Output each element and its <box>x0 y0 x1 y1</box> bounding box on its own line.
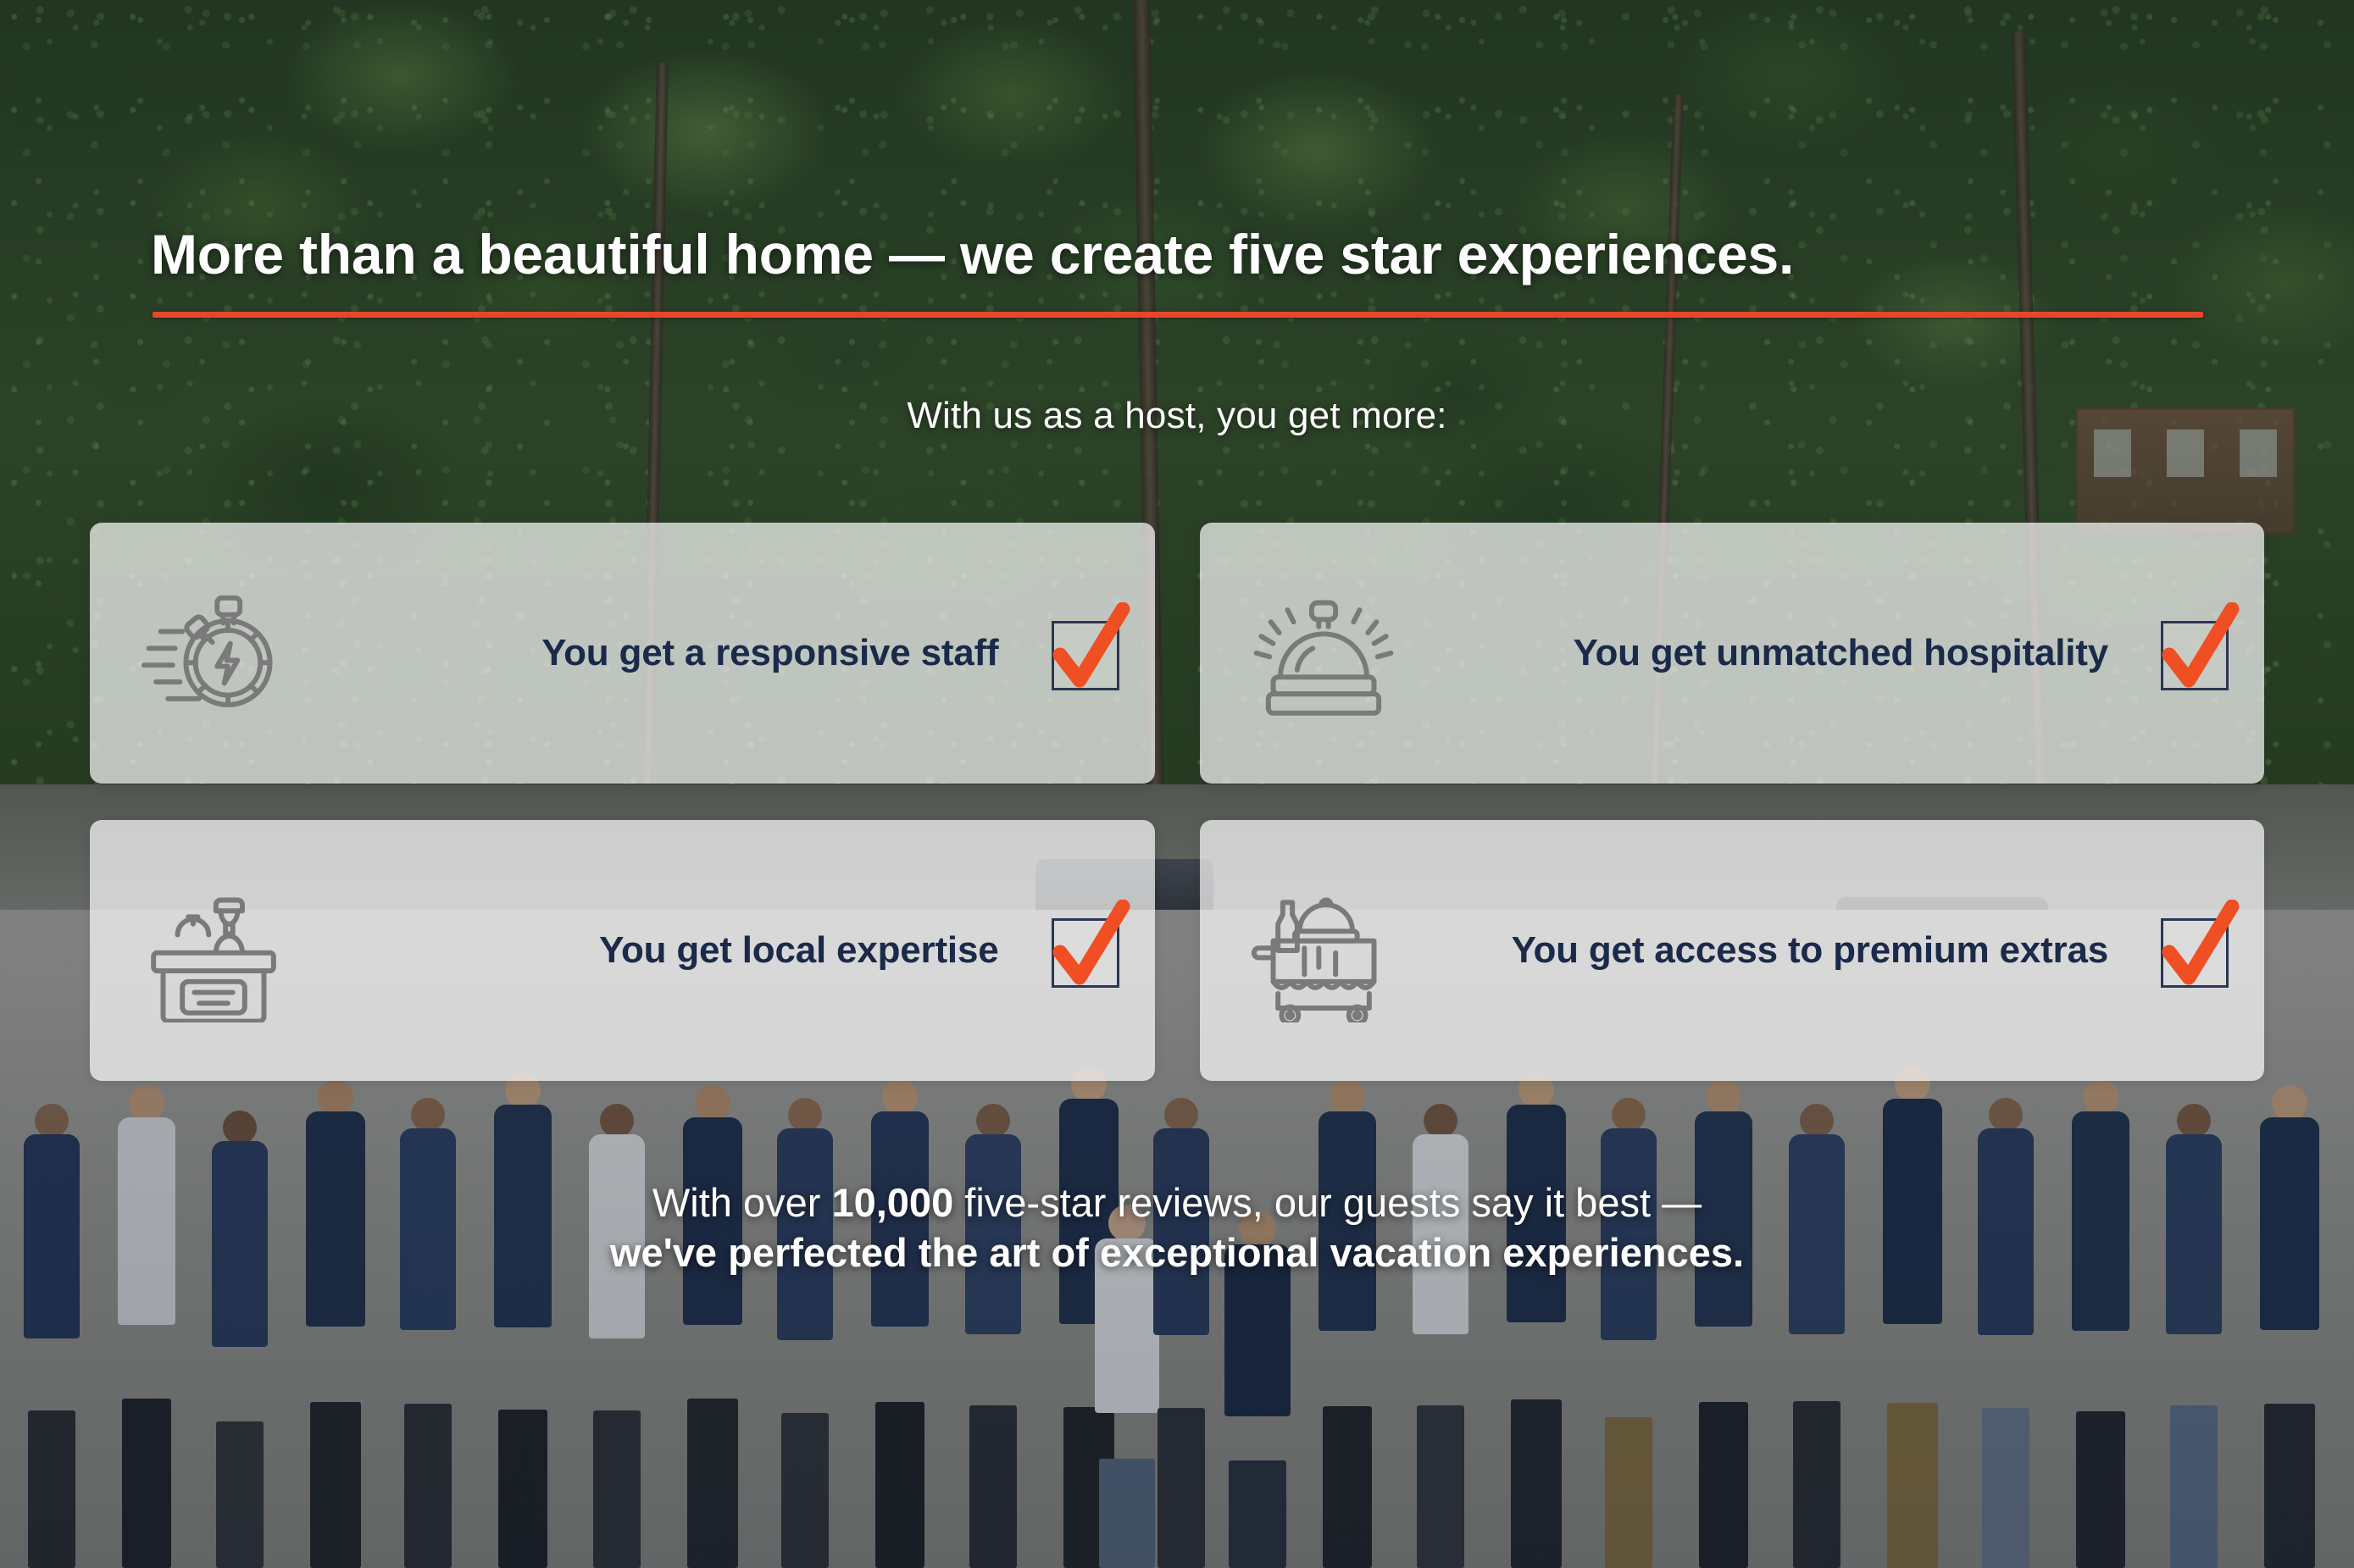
footnote-line1-pre: With over <box>652 1180 832 1225</box>
service-bell-icon <box>1249 581 1398 725</box>
checkmark-icon <box>1041 602 1133 702</box>
checkmark-icon <box>2151 602 2242 702</box>
benefit-card-premium-extras[interactable]: You get access to premium extras <box>1200 820 2265 1081</box>
benefits-grid: You get a responsive staff <box>90 523 2264 1081</box>
stopwatch-speed-icon <box>139 581 288 725</box>
marketing-hero-slide: More than a beautiful home — we create f… <box>0 0 2354 1568</box>
title-underline-rule <box>153 312 2203 318</box>
benefit-card-label: You get access to premium extras <box>1398 929 2157 972</box>
reviews-footnote: With over 10,000 five-star reviews, our … <box>0 1177 2354 1277</box>
footnote-line-2: we've perfected the art of exceptional v… <box>0 1227 2354 1277</box>
benefit-card-unmatched-hospitality[interactable]: You get unmatched hospitality <box>1200 523 2265 784</box>
checkbox-checked[interactable] <box>2156 911 2230 989</box>
checkbox-checked[interactable] <box>1047 614 1121 692</box>
benefit-card-label: You get local expertise <box>288 929 1047 972</box>
benefit-card-label: You get unmatched hospitality <box>1398 632 2157 674</box>
checkmark-icon <box>2151 900 2242 1000</box>
checkbox-checked[interactable] <box>1047 911 1121 989</box>
benefit-card-responsive-staff[interactable]: You get a responsive staff <box>90 523 1155 784</box>
page-title: More than a beautiful home — we create f… <box>151 222 2201 286</box>
benefit-card-label: You get a responsive staff <box>288 632 1047 674</box>
footnote-line1-post: five-star reviews, our guests say it bes… <box>953 1180 1702 1225</box>
checkbox-checked[interactable] <box>2156 614 2230 692</box>
slide-content: More than a beautiful home — we create f… <box>0 0 2354 1568</box>
benefit-card-local-expertise[interactable]: You get local expertise <box>90 820 1155 1081</box>
subheading: With us as a host, you get more: <box>0 395 2354 437</box>
footnote-review-count: 10,000 <box>831 1180 953 1225</box>
room-service-cart-icon <box>1249 878 1398 1022</box>
concierge-desk-icon <box>139 878 288 1022</box>
checkmark-icon <box>1041 900 1133 1000</box>
footnote-line-1: With over 10,000 five-star reviews, our … <box>0 1177 2354 1227</box>
